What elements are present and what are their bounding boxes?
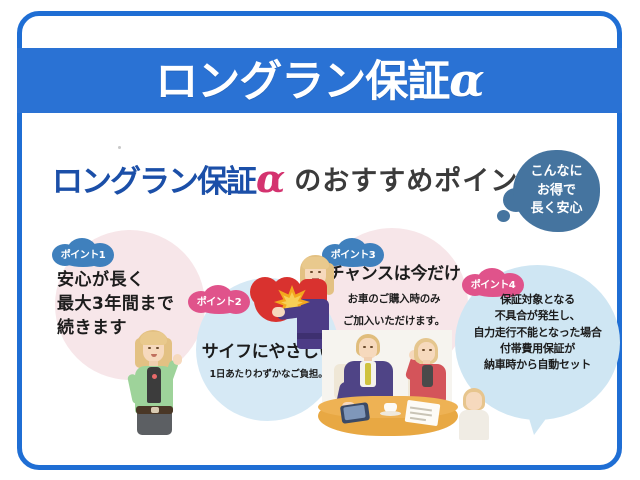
- point-4-sub-line-4: 付帯費用保証が: [455, 341, 620, 357]
- point-4-badge-label: ポイント4: [471, 276, 515, 291]
- catch-bubble-line-1: こんなに: [530, 163, 582, 182]
- decorative-dot: [118, 146, 121, 149]
- point-2-badge-label: ポイント2: [197, 293, 241, 308]
- advertisement-page: ロングラン保証α ロングラン保証αのおすすめポイント こんなに お得で 長く安心…: [0, 0, 640, 480]
- catch-bubble-line-3: 長く安心: [530, 200, 582, 219]
- subtitle-brand-alpha: α: [256, 156, 285, 201]
- banner-title-alpha: α: [449, 53, 483, 107]
- point-1-badge-label: ポイント1: [61, 246, 105, 261]
- point-2-badge: ポイント2: [188, 285, 250, 315]
- banner-title-text: ロングラン保証: [155, 57, 449, 107]
- point-4-sub-line-5: 納車時から自動セット: [455, 357, 620, 373]
- catch-bubble-dot: [497, 210, 510, 222]
- consultation-scene-illustration: [312, 330, 462, 440]
- point-1-badge: ポイント1: [52, 238, 114, 268]
- header-banner: ロングラン保証α: [17, 48, 622, 113]
- banner-title: ロングラン保証α: [155, 57, 483, 104]
- catch-bubble: こんなに お得で 長く安心: [513, 150, 600, 232]
- point-4-sub-line-2: 不具合が発生し、: [455, 308, 620, 324]
- point-4-sub-line-1: 保証対象となる: [455, 292, 620, 308]
- small-person-illustration: [455, 388, 495, 440]
- subtitle: ロングラン保証αのおすすめポイント: [52, 155, 522, 201]
- point-1-heading-line-1: 安心が長く: [57, 268, 174, 292]
- woman-green-cardigan-illustration: [120, 330, 190, 440]
- point-4-sub-line-3: 自力走行不能となった場合: [455, 325, 620, 341]
- point-1-heading-line-2: 最大3年間まで: [57, 292, 174, 316]
- catch-bubble-line-2: お得で: [537, 182, 576, 201]
- point-4-text: 保証対象となる 不具合が発生し、 自力走行不能となった場合 付帯費用保証が 納車…: [455, 292, 620, 373]
- subtitle-brand: ロングラン保証: [52, 156, 255, 201]
- point-4-bubble-tail: [525, 405, 556, 435]
